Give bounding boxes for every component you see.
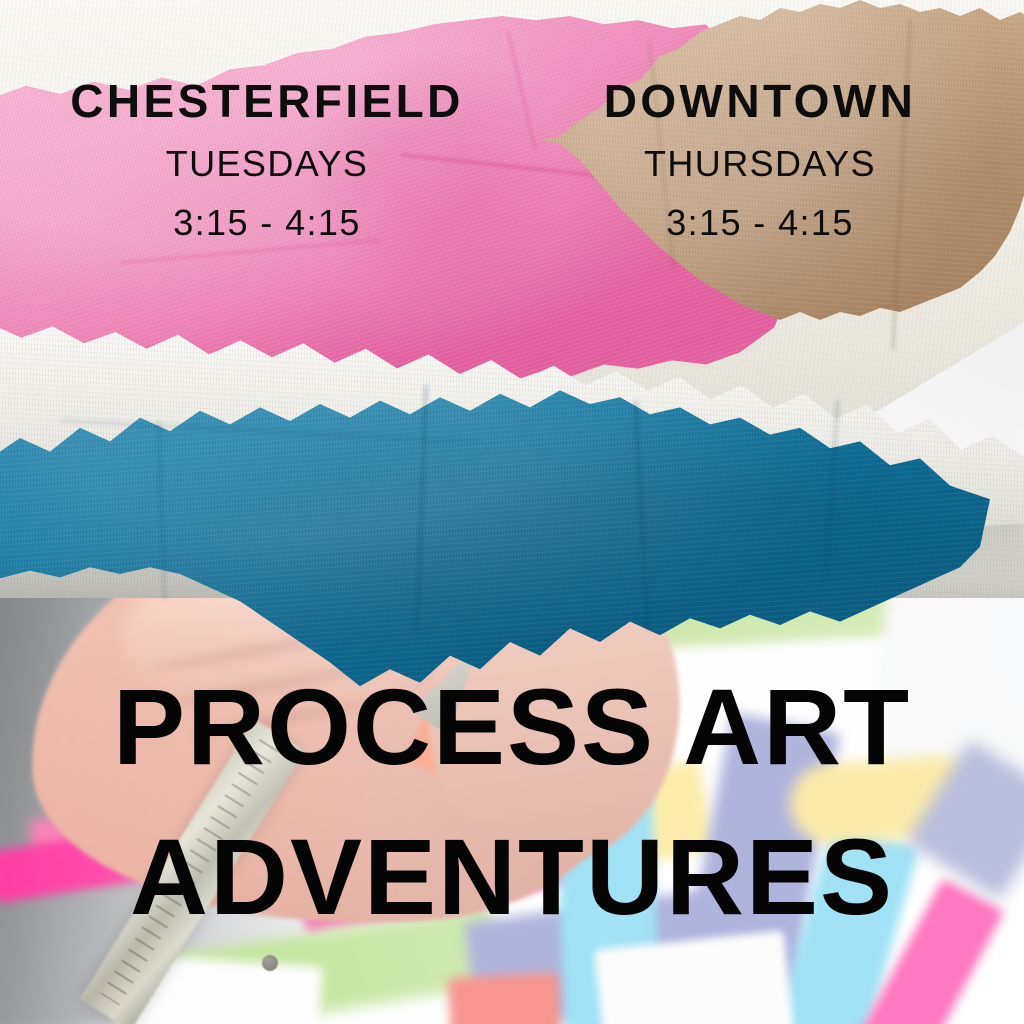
location-name-chesterfield: CHESTERFIELD	[52, 78, 482, 124]
headline-line-1: PROCESS ART	[0, 673, 1024, 781]
location-day-chesterfield: TUESDAYS	[52, 146, 482, 182]
location-day-downtown: THURSDAYS	[555, 146, 965, 182]
location-block-downtown: DOWNTOWN THURSDAYS 3:15 - 4:15	[555, 78, 965, 241]
location-block-chesterfield: CHESTERFIELD TUESDAYS 3:15 - 4:15	[52, 78, 482, 241]
red-paper-square	[448, 972, 563, 1024]
process-art-adventures-poster: CHESTERFIELD TUESDAYS 3:15 - 4:15 DOWNTO…	[0, 0, 1024, 1024]
location-time-chesterfield: 3:15 - 4:15	[52, 205, 482, 241]
location-time-downtown: 3:15 - 4:15	[555, 205, 965, 241]
headline-line-2: ADVENTURES	[0, 823, 1024, 931]
location-name-downtown: DOWNTOWN	[555, 78, 965, 124]
scissors-pivot-screw	[262, 955, 278, 971]
